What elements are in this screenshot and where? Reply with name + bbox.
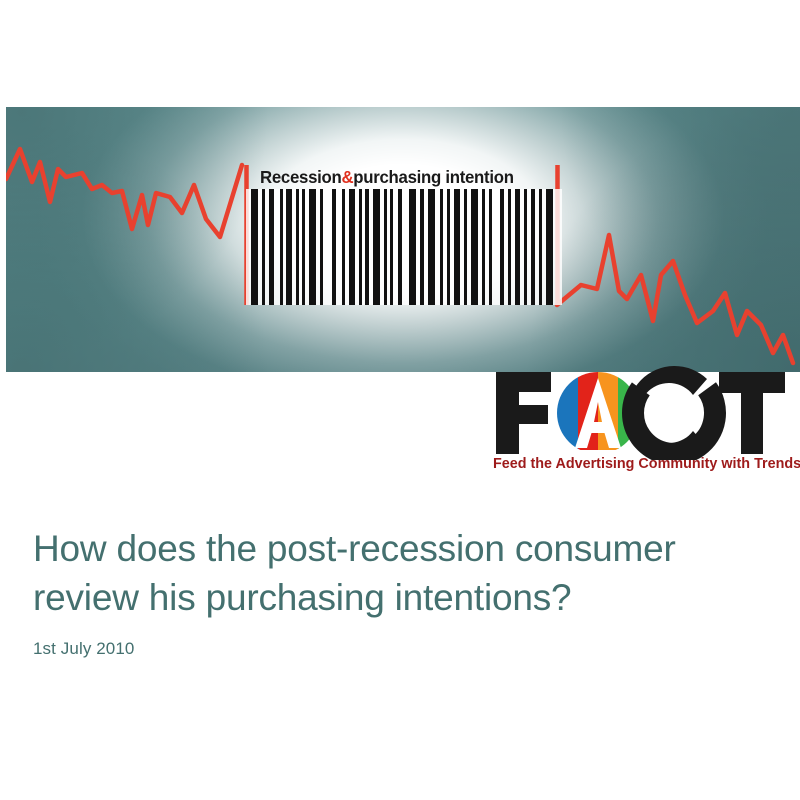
fact-tagline: Feed the Advertising Community with Tren… xyxy=(493,456,790,472)
barcode-graphic: Recession & purchasing intention xyxy=(246,165,562,305)
barcode-backing xyxy=(246,189,562,305)
barcode-bars xyxy=(246,189,562,305)
title-banner-image: Recession & purchasing intention xyxy=(6,107,800,372)
barcode-label-prefix: Recession xyxy=(260,167,341,188)
slide-page: { "slide": { "title": "How does the post… xyxy=(0,0,800,800)
fact-wordmark-graphic xyxy=(488,364,793,460)
barcode-label: Recession & purchasing intention xyxy=(260,165,536,190)
page-title: How does the post-recession consumer rev… xyxy=(33,524,763,622)
fact-logo: Feed the Advertising Community with Tren… xyxy=(488,364,793,482)
slide-date: 1st July 2010 xyxy=(33,639,763,659)
trend-line-right xyxy=(557,235,793,363)
barcode-label-suffix: purchasing intention xyxy=(353,167,513,188)
trend-line-left xyxy=(6,149,242,237)
barcode-label-ampersand: & xyxy=(341,167,353,188)
title-block: How does the post-recession consumer rev… xyxy=(33,524,763,659)
logo-letter-f xyxy=(496,372,551,454)
logo-letter-t xyxy=(719,372,785,454)
